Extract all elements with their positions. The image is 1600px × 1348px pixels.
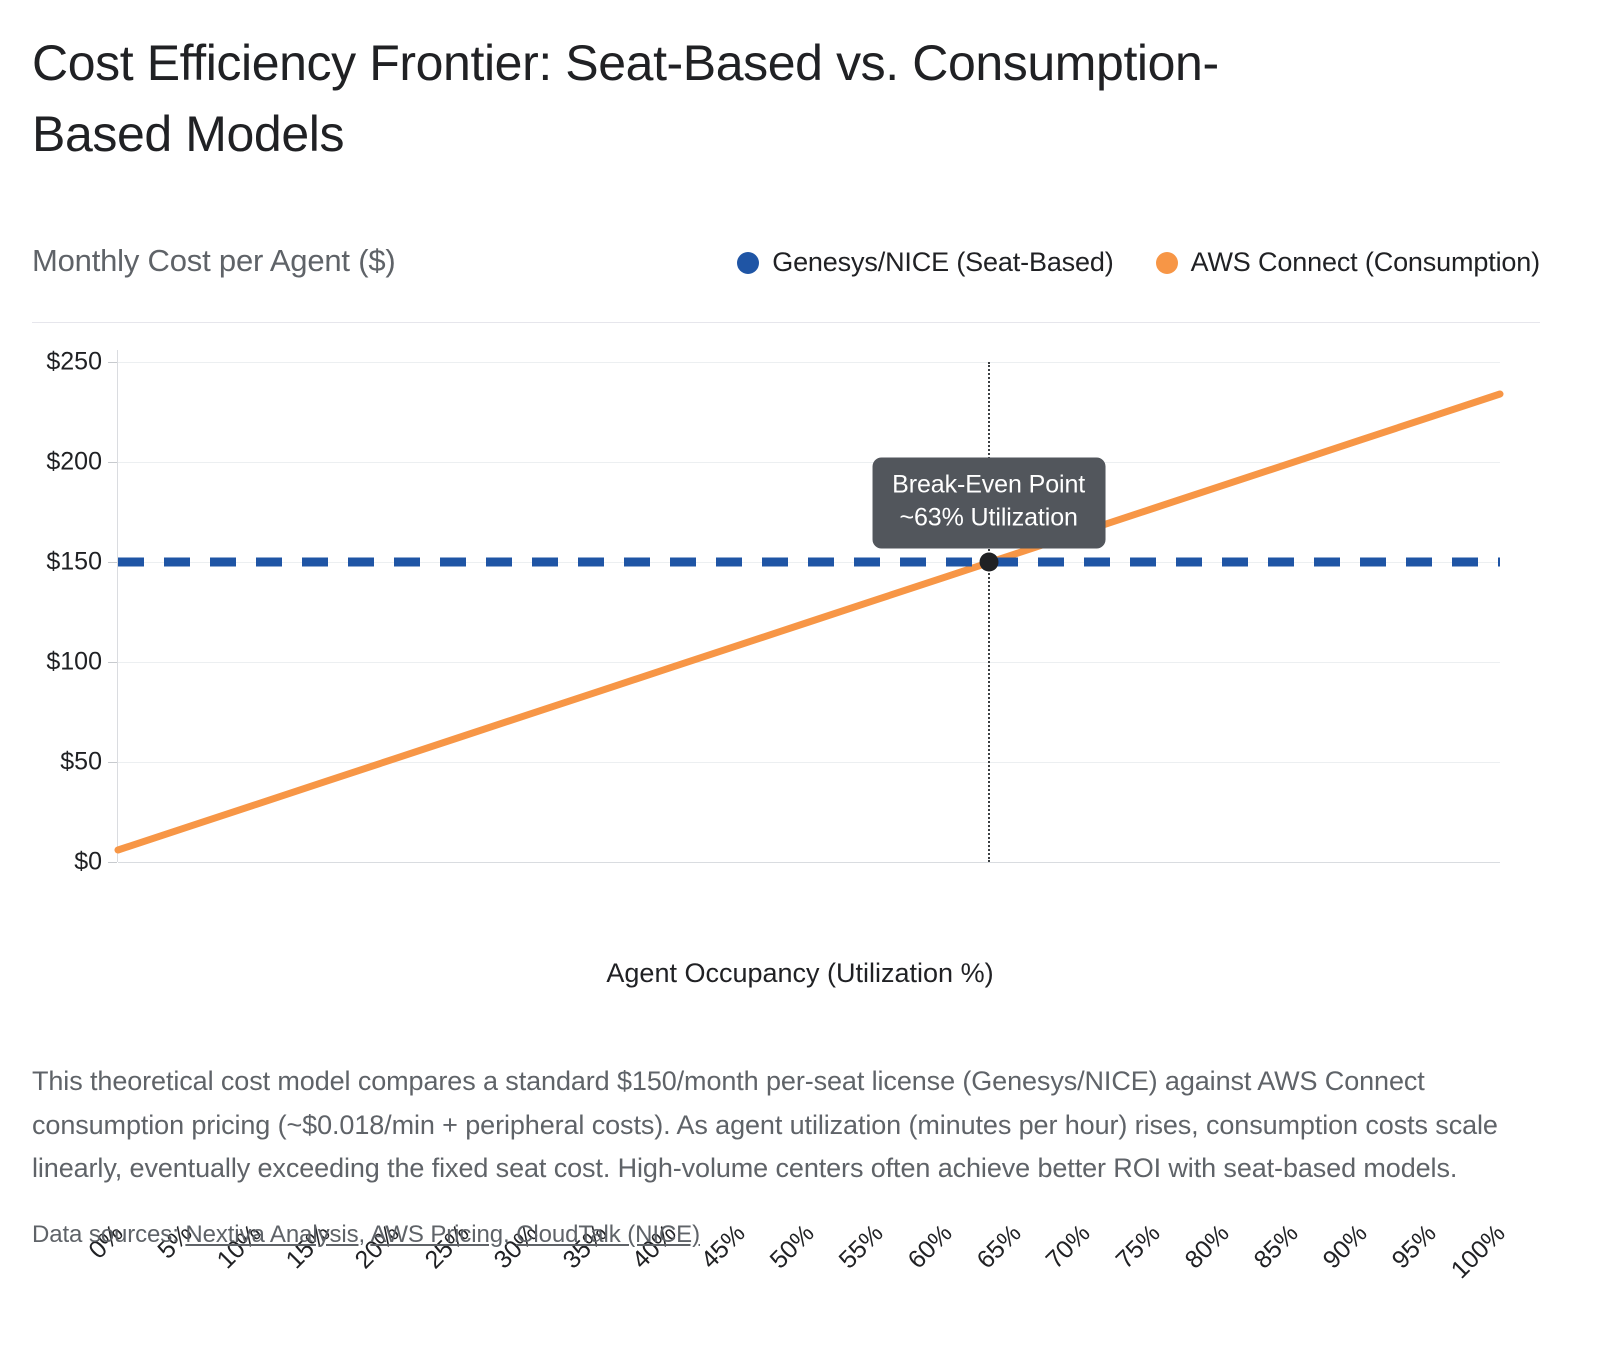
legend-item-consumption[interactable]: AWS Connect (Consumption) (1156, 247, 1540, 278)
y-tick-mark (108, 862, 117, 863)
source-link-aws-pricing[interactable]: AWS Pricing (370, 1221, 503, 1248)
y-tick-mark (108, 362, 117, 363)
chart-header: Monthly Cost per Agent ($) Genesys/NICE … (32, 243, 1540, 321)
y-tick-mark (108, 762, 117, 763)
footer-sources: Data sources: Nextiva Analysis, AWS Pric… (32, 1221, 1540, 1249)
y-tick-label: $100 (6, 648, 102, 677)
y-tick-label: $150 (6, 548, 102, 577)
y-tick-label: $0 (6, 848, 102, 877)
chart-area: $0$50$100$150$200$250 Break-Even Point ~… (0, 336, 1600, 996)
y-tick-mark (108, 462, 117, 463)
source-link-cloudtalk[interactable]: CloudTalk (NICE) (516, 1221, 700, 1248)
y-tick-label: $50 (6, 748, 102, 777)
header-divider (32, 322, 1540, 323)
breakeven-vertical-line (988, 362, 990, 862)
source-sep-1: , (359, 1221, 366, 1248)
series-layer (118, 362, 1500, 862)
source-sep-2: , (503, 1221, 510, 1248)
legend-dot-blue-icon (737, 252, 759, 274)
footer-note: This theoretical cost model compares a s… (32, 1060, 1540, 1191)
y-tick-label: $250 (6, 348, 102, 377)
page-title: Cost Efficiency Frontier: Seat-Based vs.… (32, 28, 1332, 170)
gridline (118, 862, 1500, 863)
source-link-nextiva[interactable]: Nextiva Analysis (185, 1221, 358, 1248)
legend-item-seat-based[interactable]: Genesys/NICE (Seat-Based) (737, 247, 1113, 278)
footer-sources-label: Data sources: (32, 1221, 179, 1248)
chart-legend: Genesys/NICE (Seat-Based) AWS Connect (C… (737, 247, 1540, 278)
chart-page: Cost Efficiency Frontier: Seat-Based vs.… (0, 0, 1600, 1348)
legend-dot-orange-icon (1156, 252, 1178, 274)
y-tick-mark (108, 662, 117, 663)
breakeven-marker-dot[interactable] (979, 553, 998, 572)
y-axis-title: Monthly Cost per Agent ($) (32, 243, 396, 279)
y-tick-label: $200 (6, 448, 102, 477)
series-line-consumption (118, 394, 1500, 850)
legend-label-seat-based: Genesys/NICE (Seat-Based) (772, 247, 1113, 278)
breakeven-annotation-tooltip: Break-Even Point ~63% Utilization (872, 458, 1105, 549)
legend-label-consumption: AWS Connect (Consumption) (1191, 247, 1540, 278)
y-tick-mark (108, 562, 117, 563)
plot-area: Break-Even Point ~63% Utilization (118, 362, 1500, 862)
chart-footer: This theoretical cost model compares a s… (32, 1060, 1540, 1249)
x-axis-title: Agent Occupancy (Utilization %) (0, 958, 1600, 989)
